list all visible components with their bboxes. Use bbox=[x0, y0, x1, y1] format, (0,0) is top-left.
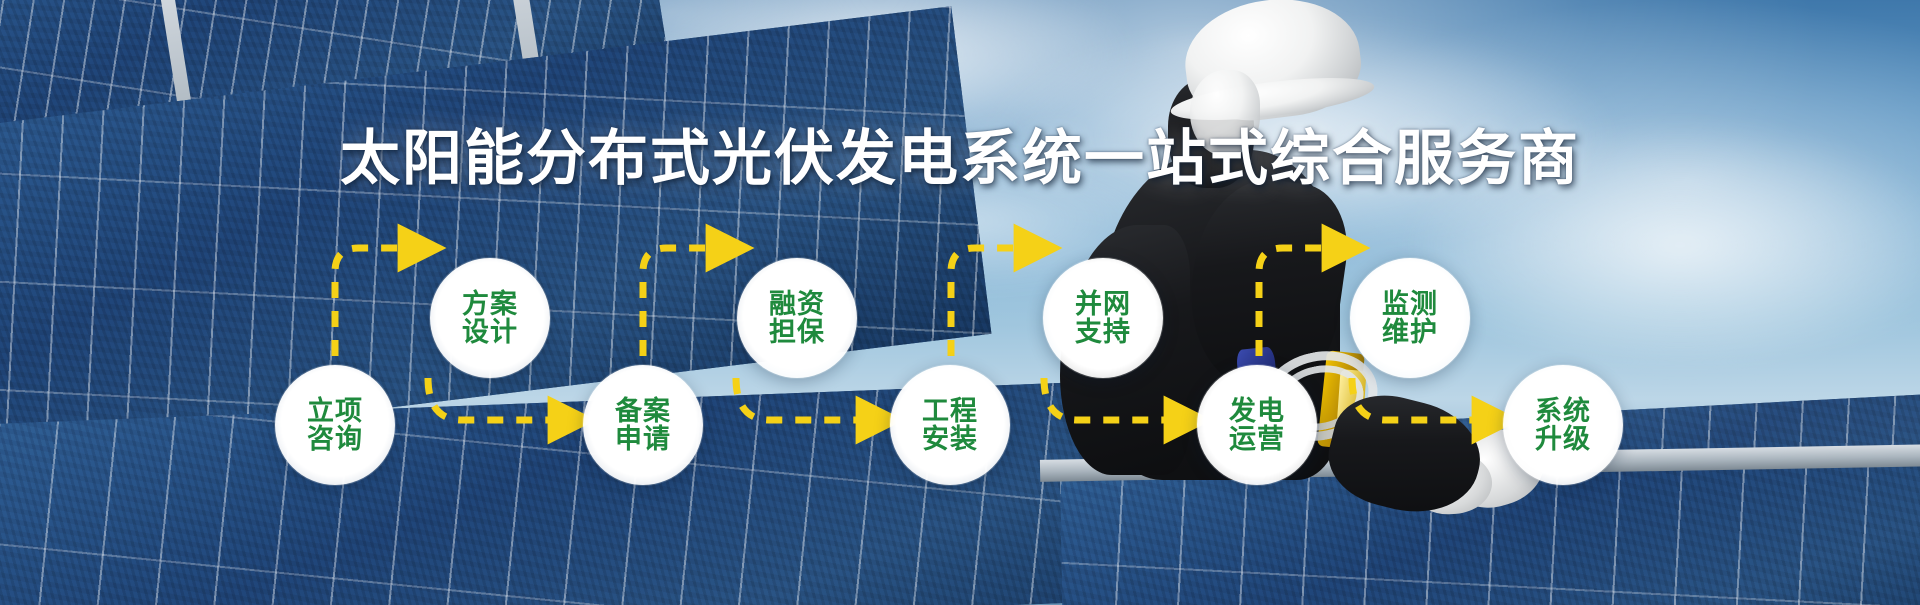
flow-node-9[interactable]: 系统 升级 bbox=[1503, 365, 1623, 485]
arrow-5-to-6 bbox=[951, 248, 1036, 356]
flow-node-3[interactable]: 备案 申请 bbox=[583, 365, 703, 485]
flow-node-1[interactable]: 立项 咨询 bbox=[275, 365, 395, 485]
arrow-8-to-9 bbox=[1352, 378, 1494, 420]
arrow-7-to-8 bbox=[1259, 248, 1344, 356]
flow-node-8[interactable]: 监测 维护 bbox=[1350, 258, 1470, 378]
arrow-2-to-3 bbox=[428, 378, 570, 420]
flow-node-label: 融资 担保 bbox=[769, 290, 825, 347]
flow-node-label: 备案 申请 bbox=[615, 397, 671, 454]
flow-node-label: 系统 升级 bbox=[1535, 397, 1591, 454]
arrow-1-to-2 bbox=[335, 248, 420, 356]
arrow-6-to-7 bbox=[1044, 378, 1186, 420]
flow-node-label: 方案 设计 bbox=[462, 290, 518, 347]
flow-node-7[interactable]: 发电 运营 bbox=[1197, 365, 1317, 485]
flow-node-4[interactable]: 融资 担保 bbox=[737, 258, 857, 378]
flow-node-5[interactable]: 工程 安装 bbox=[890, 365, 1010, 485]
flow-node-label: 工程 安装 bbox=[922, 397, 978, 454]
arrow-3-to-4 bbox=[643, 248, 728, 356]
flow-node-label: 发电 运营 bbox=[1229, 397, 1285, 454]
arrow-4-to-5 bbox=[736, 378, 878, 420]
flow-node-label: 并网 支持 bbox=[1075, 290, 1131, 347]
flow-node-label: 监测 维护 bbox=[1382, 290, 1438, 347]
process-flow-diagram: 立项 咨询 方案 设计 备案 申请 融资 担保 工程 安装 并网 支持 发电 运… bbox=[0, 0, 1920, 605]
flow-node-6[interactable]: 并网 支持 bbox=[1043, 258, 1163, 378]
flow-node-2[interactable]: 方案 设计 bbox=[430, 258, 550, 378]
flow-arrows bbox=[0, 0, 1920, 605]
flow-node-label: 立项 咨询 bbox=[307, 397, 363, 454]
solar-service-banner: 太阳能分布式光伏发电系统一站式综合服务商 立项 咨询 bbox=[0, 0, 1920, 605]
